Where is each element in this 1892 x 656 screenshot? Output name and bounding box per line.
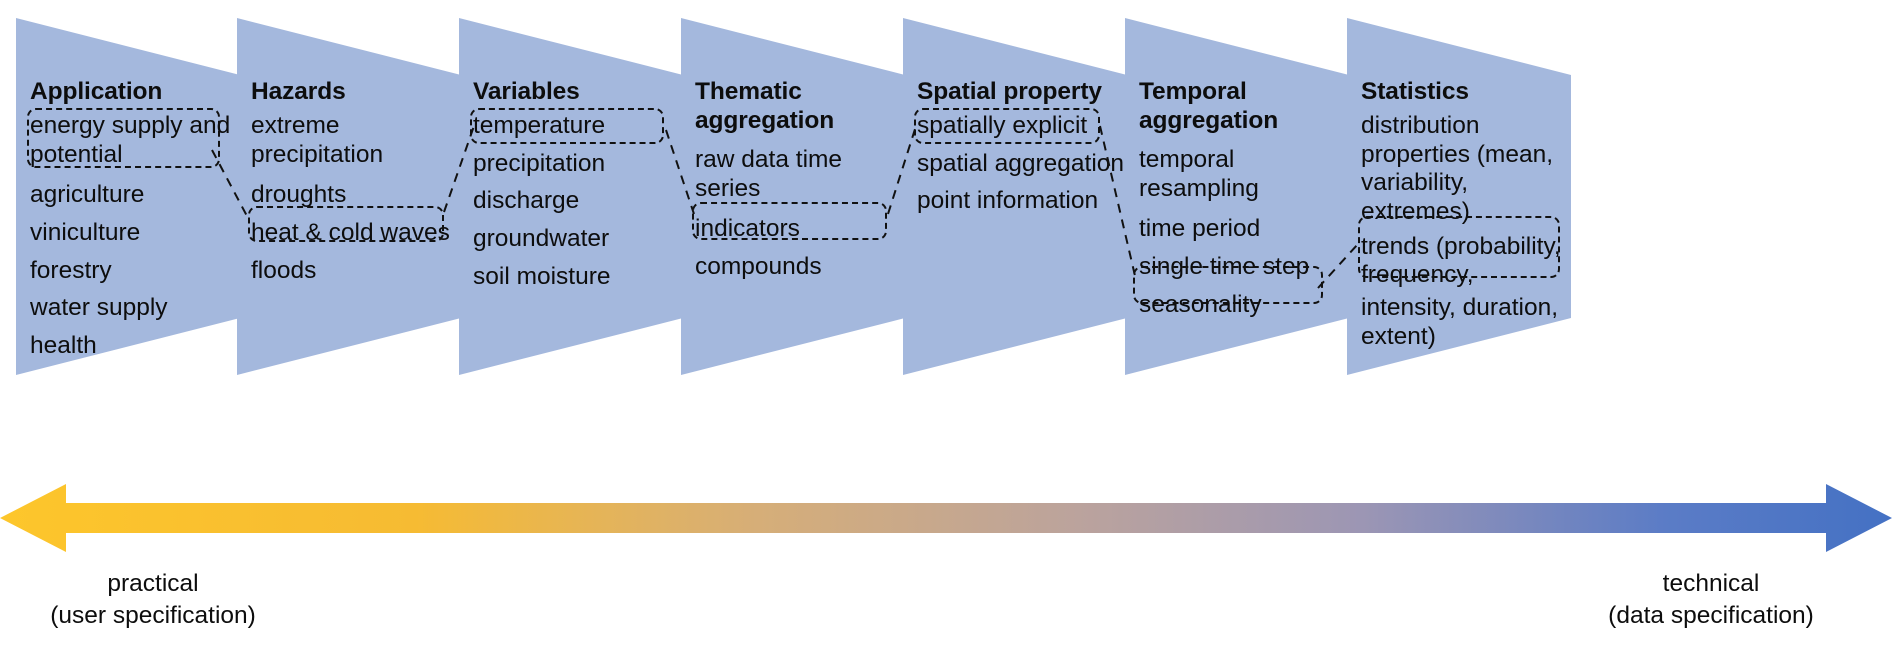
panel-items: energy supply and potential agriculture … [30, 112, 230, 370]
list-item[interactable]: discharge [473, 187, 611, 216]
panel-variables: Variables temperature precipitation disc… [459, 0, 683, 390]
diagram-canvas: Application energy supply and potential … [0, 0, 1892, 656]
list-item[interactable]: groundwater [473, 225, 611, 254]
list-item[interactable]: intensity, duration, extent) [1361, 294, 1567, 351]
list-item-highlighted[interactable]: energy supply and potential [30, 112, 230, 169]
panel-title: Spatial property [917, 78, 1102, 107]
list-item[interactable]: agriculture [30, 181, 230, 210]
panel-items: extreme precipitation droughts heat & co… [251, 112, 450, 294]
panel-statistics: Statistics distribution properties (mean… [1347, 0, 1571, 390]
list-item-highlighted[interactable]: temperature [473, 112, 611, 141]
list-item[interactable]: forestry [30, 257, 230, 286]
list-item[interactable]: raw data time series [695, 146, 842, 203]
list-item[interactable]: precipitation [473, 150, 611, 179]
panel-items: spatially explicit spatial aggregation p… [917, 112, 1124, 225]
panel-items: raw data time series indicators compound… [695, 146, 842, 291]
list-item[interactable]: extreme precipitation [251, 112, 450, 169]
list-item[interactable]: floods [251, 257, 450, 286]
list-item[interactable]: time period [1139, 215, 1309, 244]
panel-title: Statistics [1361, 78, 1469, 107]
list-item[interactable]: point information [917, 187, 1124, 216]
panel-thematic-aggregation: Thematic aggregation raw data time serie… [681, 0, 905, 390]
list-item-highlighted[interactable]: indicators [695, 215, 842, 244]
spectrum-arrow-svg [0, 470, 1892, 570]
list-item[interactable]: distribution properties (mean, variabili… [1361, 112, 1567, 227]
panel-temporal-aggregation: Temporal aggregation temporal resampling… [1125, 0, 1349, 390]
list-item[interactable]: temporal resampling [1139, 146, 1309, 203]
list-item[interactable]: spatial aggregation [917, 150, 1124, 179]
panel-spatial-property: Spatial property spatially explicit spat… [903, 0, 1127, 390]
panel-title: Temporal aggregation [1139, 78, 1278, 135]
spectrum-arrow [0, 470, 1892, 570]
list-item-highlighted[interactable]: spatially explicit [917, 112, 1124, 141]
panel-application: Application energy supply and potential … [16, 0, 240, 390]
axis-label-technical: technical (data specification) [1546, 568, 1876, 632]
arrow-body [0, 484, 1892, 552]
list-item[interactable]: health [30, 332, 230, 361]
list-item[interactable]: water supply [30, 294, 230, 323]
panel-title: Variables [473, 78, 580, 107]
panel-hazards: Hazards extreme precipitation droughts h… [237, 0, 461, 390]
panel-title: Hazards [251, 78, 346, 107]
panel-items: temporal resampling time period single t… [1139, 146, 1309, 328]
list-item[interactable]: droughts [251, 181, 450, 210]
axis-label-practical: practical (user specification) [8, 568, 298, 632]
panel-row: Application energy supply and potential … [0, 0, 1892, 390]
panel-items: distribution properties (mean, variabili… [1361, 112, 1567, 352]
panel-title: Thematic aggregation [695, 78, 834, 135]
list-item-highlighted[interactable]: heat & cold waves [251, 219, 450, 248]
list-item[interactable]: single time step [1139, 253, 1309, 282]
list-item-highlighted[interactable]: seasonality [1139, 291, 1309, 320]
list-item-highlighted[interactable]: trends (probability, frequency, [1361, 233, 1567, 290]
axis-label-row: practical (user specification) technical… [0, 568, 1892, 656]
list-item[interactable]: soil moisture [473, 263, 611, 292]
list-item[interactable]: compounds [695, 253, 842, 282]
list-item[interactable]: viniculture [30, 219, 230, 248]
panel-title: Application [30, 78, 162, 107]
panel-items: temperature precipitation discharge grou… [473, 112, 611, 300]
